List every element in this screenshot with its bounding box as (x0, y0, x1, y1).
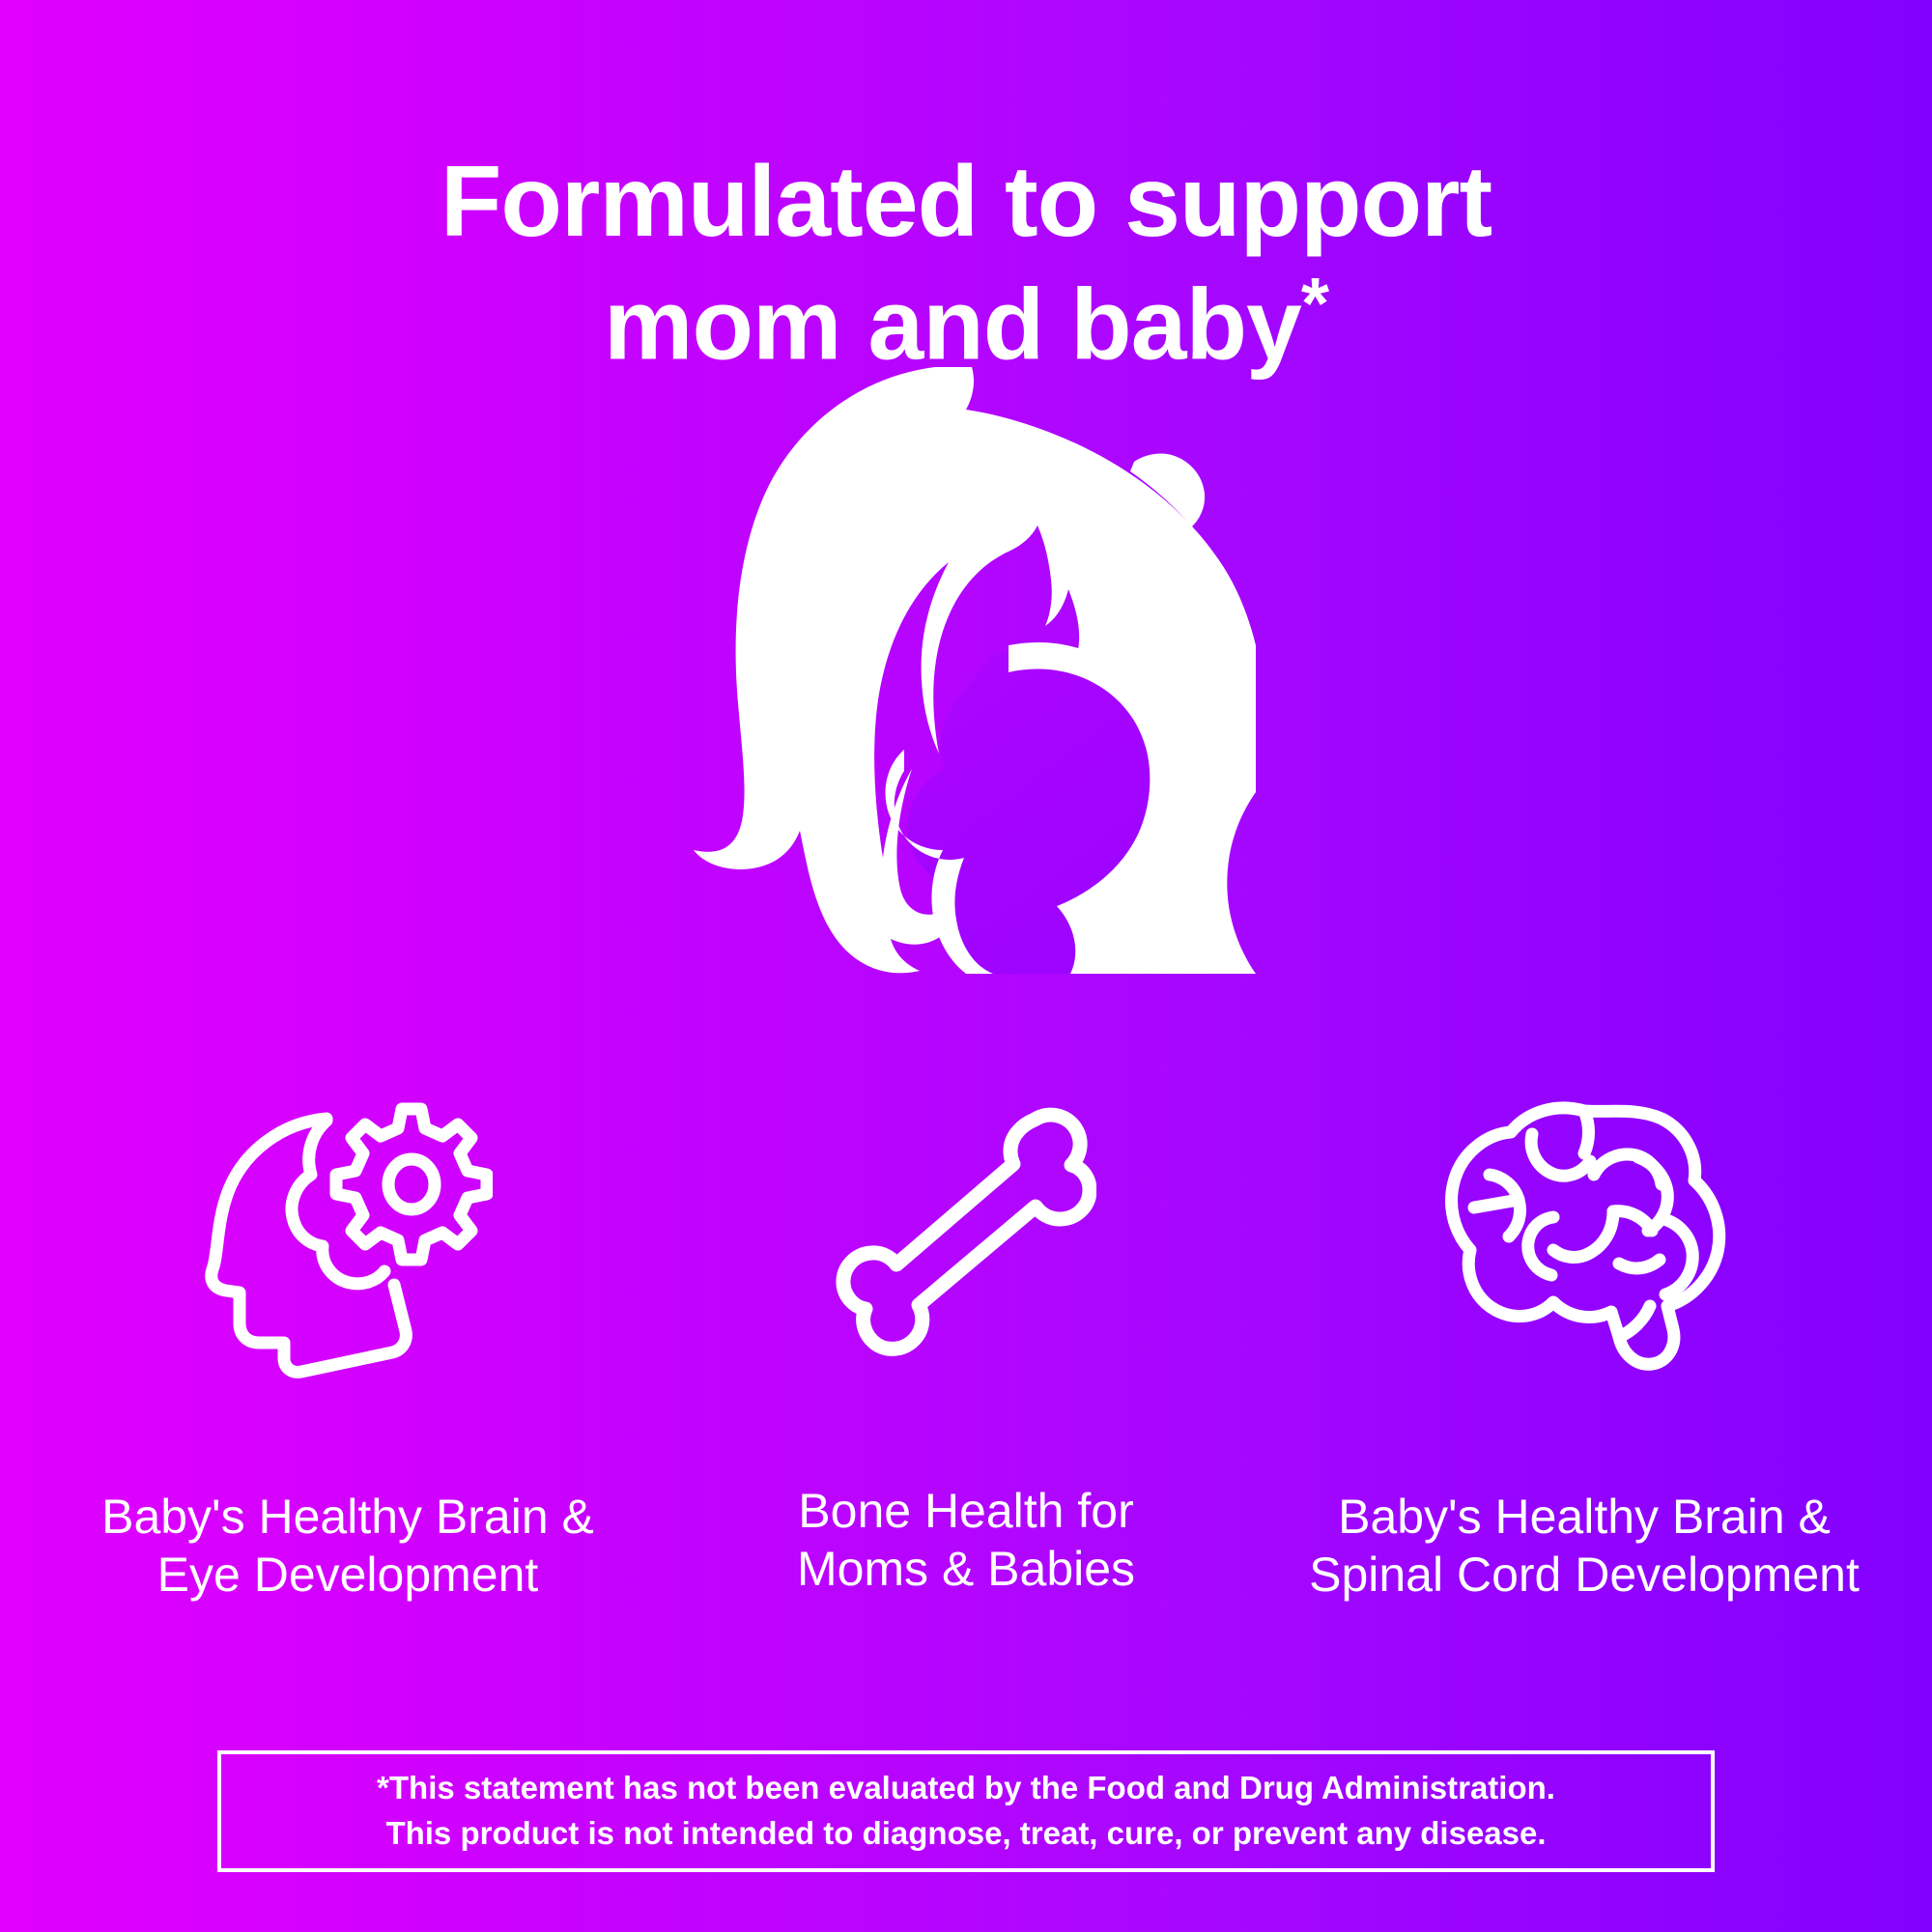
page-title: Formulated to support mom and baby* (0, 143, 1932, 385)
bone-icon (802, 1080, 1130, 1399)
disclaimer-line-2: This product is not intended to diagnose… (385, 1815, 1546, 1851)
disclaimer-box: *This statement has not been evaluated b… (217, 1750, 1715, 1872)
head-with-gear-icon (184, 1080, 512, 1399)
disclaimer-text: *This statement has not been evaluated b… (365, 1766, 1567, 1857)
mother-and-baby-illustration (676, 355, 1256, 974)
benefit-label-line-1: Bone Health for (798, 1484, 1133, 1538)
brain-icon (1420, 1080, 1748, 1399)
disclaimer-line-1: *This statement has not been evaluated b… (377, 1770, 1555, 1805)
benefits-row: Baby's Healthy Brain & Eye Development B… (58, 1080, 1874, 1604)
benefit-label-line-2: Moms & Babies (797, 1542, 1135, 1596)
benefit-label: Bone Health for Moms & Babies (797, 1482, 1135, 1598)
headline-line-1: Formulated to support (440, 146, 1492, 258)
benefit-item-bone-health: Bone Health for Moms & Babies (676, 1080, 1256, 1598)
benefit-label: Baby's Healthy Brain & Spinal Cord Devel… (1309, 1488, 1860, 1604)
benefit-item-brain-eye: Baby's Healthy Brain & Eye Development (58, 1080, 638, 1604)
benefit-label-line-1: Baby's Healthy Brain & (101, 1490, 594, 1544)
benefit-label: Baby's Healthy Brain & Eye Development (101, 1488, 594, 1604)
benefit-label-line-2: Spinal Cord Development (1309, 1548, 1860, 1602)
headline-asterisk: * (1301, 263, 1328, 344)
benefit-label-line-2: Eye Development (157, 1548, 539, 1602)
promo-poster: Formulated to support mom and baby* (0, 0, 1932, 1932)
benefit-item-brain-spinal: Baby's Healthy Brain & Spinal Cord Devel… (1294, 1080, 1874, 1604)
benefit-label-line-1: Baby's Healthy Brain & (1338, 1490, 1831, 1544)
